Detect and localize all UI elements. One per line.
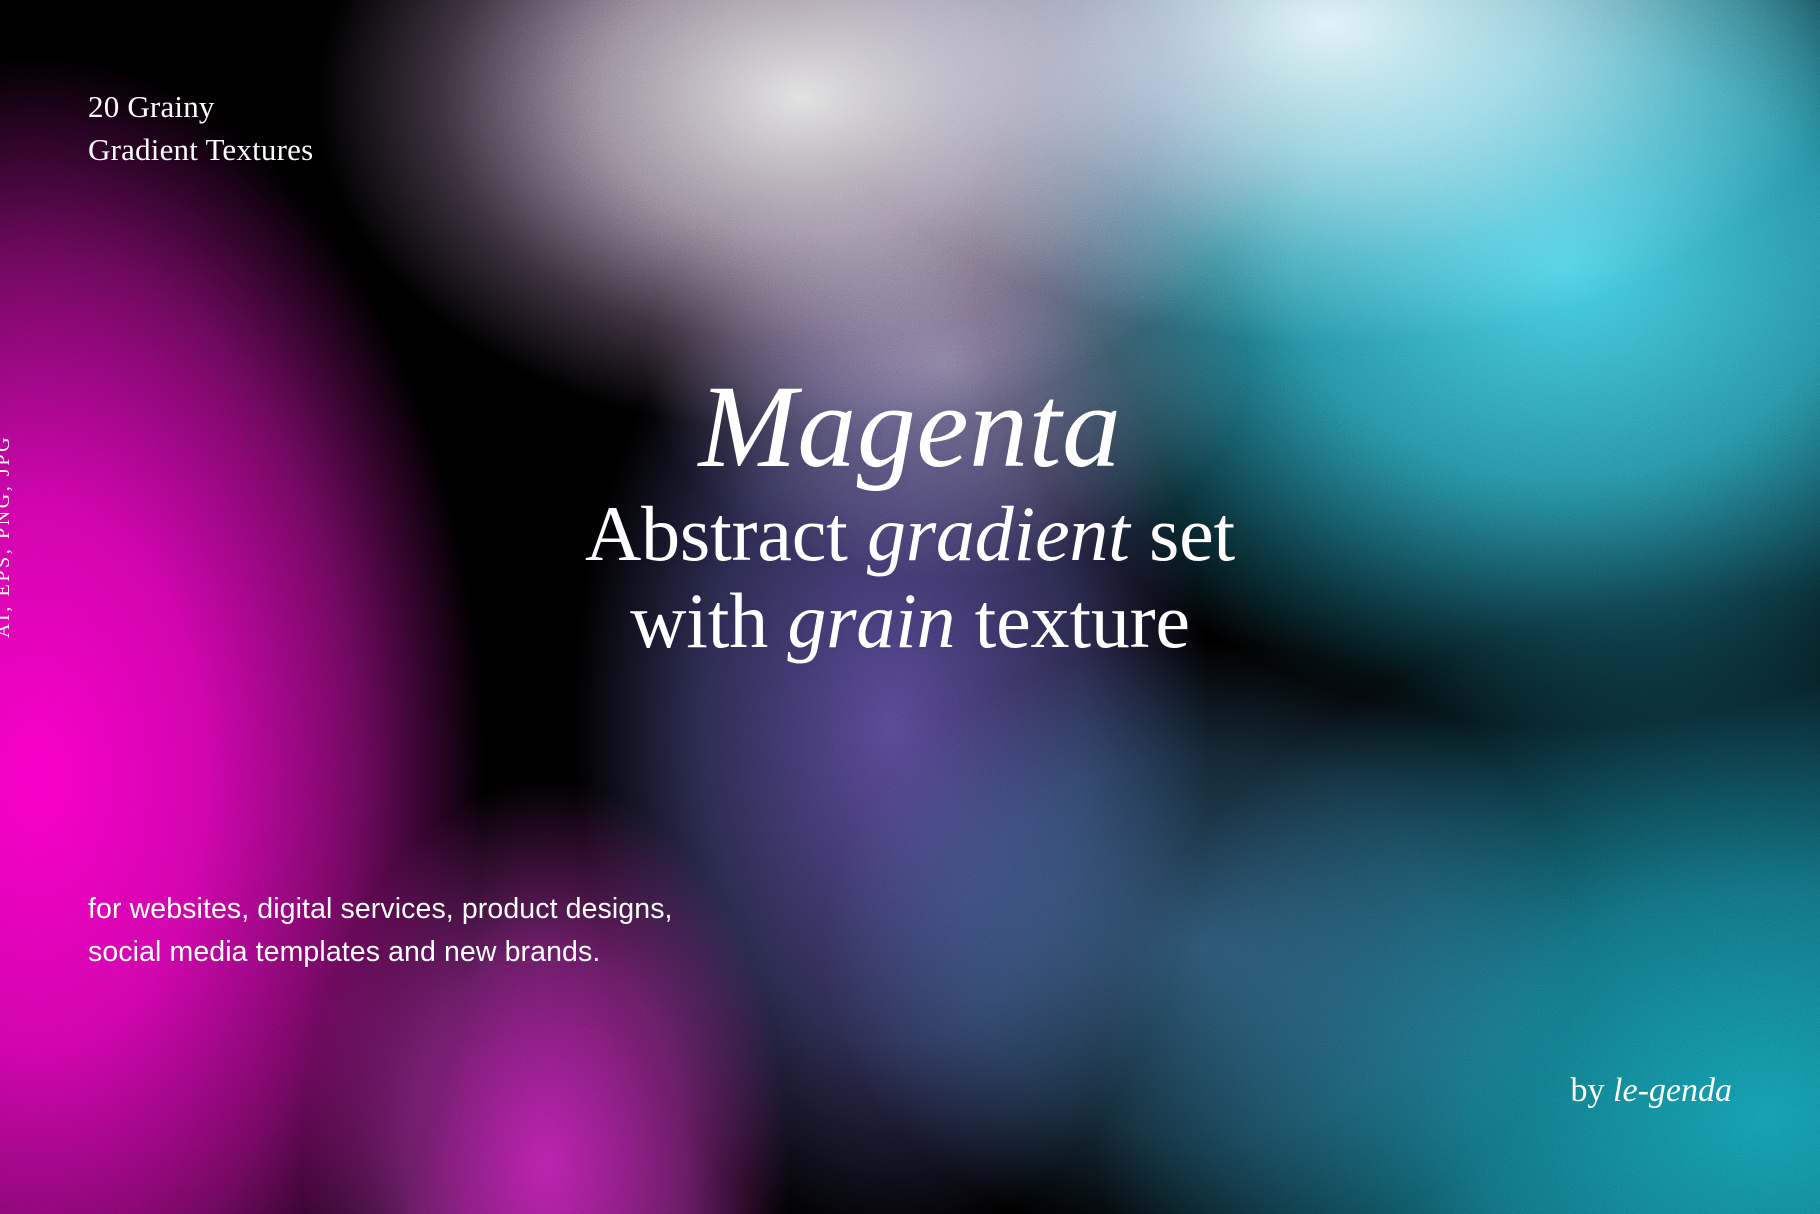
author-credit-name: le-genda [1613, 1072, 1732, 1109]
subtitle-2-part-a: with [630, 577, 787, 664]
subtitle-1-emphasis: gradient [867, 490, 1130, 577]
subtitle-2-emphasis: grain [787, 577, 955, 664]
author-credit-prefix: by [1571, 1072, 1614, 1109]
kicker-line-1: 20 Grainy [88, 86, 313, 129]
kicker-text: 20 Grainy Gradient Textures [88, 86, 313, 172]
page-title: Magenta [0, 368, 1820, 486]
subtitle-1-part-c: set [1130, 490, 1235, 577]
subtitle-1-part-a: Abstract [585, 490, 867, 577]
kicker-line-2: Gradient Textures [88, 129, 313, 172]
headline-block: Magenta Abstract gradient set with grain… [0, 368, 1820, 665]
blurb-line-1: for websites, digital services, product … [88, 888, 673, 931]
use-case-blurb: for websites, digital services, product … [88, 888, 673, 975]
subtitle-line-1: Abstract gradient set [0, 490, 1820, 577]
gradient-poster: 20 Grainy Gradient Textures AI, EPS, PNG… [0, 0, 1820, 1214]
blurb-line-2: social media templates and new brands. [88, 931, 673, 974]
subtitle-2-part-c: texture [955, 577, 1189, 664]
subtitle-line-2: with grain texture [0, 577, 1820, 664]
author-credit: by le-genda [1571, 1072, 1732, 1110]
